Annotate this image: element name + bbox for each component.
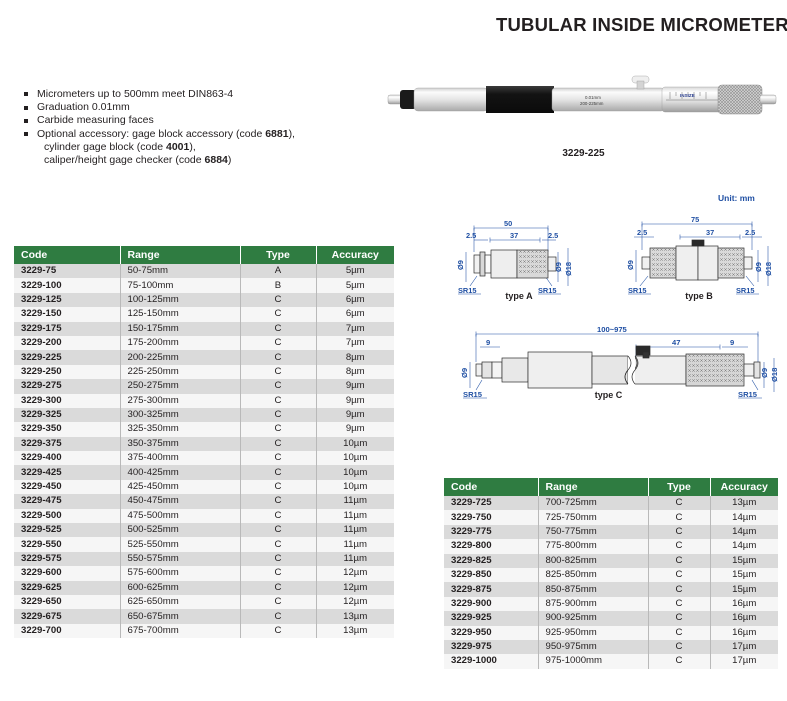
cell-type: C [240,336,316,350]
cell-accuracy: 13µm [710,496,778,510]
dim-right-step: 2.5 [548,231,558,240]
cell-accuracy: 11µm [316,494,394,508]
catalog-page: TUBULAR INSIDE MICROMETERS Micrometers u… [0,0,787,701]
cell-accuracy: 13µm [316,624,394,638]
cell-range: 200-225mm [120,350,240,364]
cell-type: C [648,554,710,568]
cell-accuracy: 16µm [710,611,778,625]
table-row: 3229-925900-925mmC16µm [444,611,778,625]
cell-range: 375-400mm [120,451,240,465]
cell-range: 950-975mm [538,640,648,654]
table-row: 3229-725700-725mmC13µm [444,496,778,510]
cell-accuracy: 7µm [316,336,394,350]
cell-range: 450-475mm [120,494,240,508]
cell-type: C [648,496,710,510]
table-header-row: Code Range Type Accuracy [14,246,394,264]
cell-range: 825-850mm [538,568,648,582]
dim-dia-right-big: Ø18 [564,262,573,276]
cell-type: A [240,264,316,278]
cell-type: C [240,322,316,336]
cell-code: 3229-250 [14,365,120,379]
cell-accuracy: 13µm [316,609,394,623]
cell-code: 3229-325 [14,408,120,422]
cell-accuracy: 10µm [316,480,394,494]
cell-accuracy: 14µm [710,510,778,524]
table-body-left: 3229-7550-75mmA5µm3229-10075-100mmB5µm32… [14,264,394,638]
cell-range: 275-300mm [120,394,240,408]
cell-type: C [648,626,710,640]
table-row: 3229-10075-100mmB5µm [14,278,394,292]
table-row: 3229-575550-575mmC11µm [14,552,394,566]
cell-type: C [240,465,316,479]
cell-code: 3229-75 [14,264,120,278]
product-caption: 3229-225 [380,148,787,159]
cell-type: C [240,422,316,436]
cell-accuracy: 14µm [710,525,778,539]
table-header-row: Code Range Type Accuracy [444,478,778,496]
cell-type: C [648,582,710,596]
cell-accuracy: 15µm [710,582,778,596]
table-row: 3229-800775-800mmC14µm [444,539,778,553]
table-row: 3229-950925-950mmC16µm [444,626,778,640]
cell-type: C [240,537,316,551]
dim-dia-right-big: Ø18 [770,368,779,382]
cell-code: 3229-625 [14,581,120,595]
product-scale-text: 0.01mm [585,95,601,100]
cell-range: 175-200mm [120,336,240,350]
dim-overall: 75 [691,215,699,224]
cell-code: 3229-825 [444,554,538,568]
cell-accuracy: 9µm [316,379,394,393]
table-row: 3229-650625-650mmC12µm [14,595,394,609]
table-row: 3229-200175-200mmC7µm [14,336,394,350]
cell-code: 3229-875 [444,582,538,596]
dim-inner: 37 [510,231,518,240]
cell-accuracy: 7µm [316,322,394,336]
dim-left-step: 9 [486,338,490,347]
cell-type: C [240,437,316,451]
table-row: 3229-625600-625mmC12µm [14,581,394,595]
cell-range: 75-100mm [120,278,240,292]
dim-inner: 37 [706,228,714,237]
cell-code: 3229-900 [444,597,538,611]
cell-range: 625-650mm [120,595,240,609]
cell-range: 400-425mm [120,465,240,479]
cell-type: C [648,568,710,582]
cell-code: 3229-150 [14,307,120,321]
table-row: 3229-7550-75mmA5µm [14,264,394,278]
cell-accuracy: 6µm [316,293,394,307]
cell-accuracy: 10µm [316,451,394,465]
cell-accuracy: 5µm [316,278,394,292]
cell-accuracy: 12µm [316,595,394,609]
cell-code: 3229-375 [14,437,120,451]
bullet-icon [24,92,28,96]
cell-accuracy: 9µm [316,422,394,436]
feature-list-items: Micrometers up to 500mm meet DIN863-4 Gr… [24,88,384,167]
cell-code: 3229-925 [444,611,538,625]
dim-dia-left: Ø9 [626,260,635,270]
cell-range: 100-125mm [120,293,240,307]
table-row: 3229-700675-700mmC13µm [14,624,394,638]
table-row: 3229-875850-875mmC15µm [444,582,778,596]
cell-range: 325-350mm [120,422,240,436]
cell-type: C [240,566,316,580]
product-photo: 0.01mm 200-225mm INSIZE [380,66,787,146]
cell-code: 3229-700 [14,624,120,638]
cell-type: C [240,480,316,494]
cell-type: C [648,597,710,611]
table-row: 3229-600575-600mmC12µm [14,566,394,580]
feature-text: Carbide measuring faces [37,114,154,126]
cell-code: 3229-275 [14,379,120,393]
cell-code: 3229-750 [444,510,538,524]
table-row: 3229-250225-250mmC8µm [14,365,394,379]
table-row: 3229-150125-150mmC6µm [14,307,394,321]
table-row: 3229-525500-525mmC11µm [14,523,394,537]
cell-range: 150-175mm [120,322,240,336]
table-row: 3229-350325-350mmC9µm [14,422,394,436]
table-row: 3229-175150-175mmC7µm [14,322,394,336]
product-range-text: 200-225mm [580,101,604,106]
column-header-accuracy: Accuracy [710,478,778,496]
cell-range: 650-675mm [120,609,240,623]
cell-type: C [240,609,316,623]
column-header-type: Type [648,478,710,496]
cell-accuracy: 12µm [316,581,394,595]
drawing-label-type-c: type C [430,390,787,400]
cell-type: C [240,394,316,408]
column-header-code: Code [14,246,120,264]
cell-accuracy: 8µm [316,350,394,364]
cell-accuracy: 16µm [710,597,778,611]
table-row: 3229-850825-850mmC15µm [444,568,778,582]
cell-range: 525-550mm [120,537,240,551]
technical-drawings: Unit: mm [430,186,787,400]
cell-code: 3229-975 [444,640,538,654]
spec-table-left: Code Range Type Accuracy 3229-7550-75mmA… [14,246,394,638]
table-body-right: 3229-725700-725mmC13µm3229-750725-750mmC… [444,496,778,669]
cell-code: 3229-300 [14,394,120,408]
drawing-label-type-a: type A [430,291,608,301]
cell-type: C [240,523,316,537]
feature-text: Micrometers up to 500mm meet DIN863-4 [37,88,233,100]
product-figure: 0.01mm 200-225mm INSIZE 3229-225 [380,66,787,146]
spec-table-right: Code Range Type Accuracy 3229-725700-725… [444,478,778,669]
table-row: 3229-500475-500mmC11µm [14,509,394,523]
dim-right-step: 2.5 [745,228,755,237]
cell-range: 875-900mm [538,597,648,611]
bullet-icon [24,106,28,110]
cell-code: 3229-525 [14,523,120,537]
cell-type: C [240,509,316,523]
dim-overall: 100~975 [597,325,628,334]
dim-dia-right-big: Ø18 [764,262,773,276]
feature-text: Graduation 0.01mm [37,101,130,113]
table-row: 3229-275250-275mmC9µm [14,379,394,393]
cell-type: C [240,451,316,465]
drawing-label-type-b: type B [612,291,786,301]
cell-code: 3229-775 [444,525,538,539]
cell-type: C [648,611,710,625]
cell-code: 3229-550 [14,537,120,551]
cell-range: 750-775mm [538,525,648,539]
cell-type: C [648,640,710,654]
cell-code: 3229-100 [14,278,120,292]
cell-range: 575-600mm [120,566,240,580]
column-header-code: Code [444,478,538,496]
cell-accuracy: 11µm [316,509,394,523]
cell-accuracy: 12µm [316,566,394,580]
cell-range: 125-150mm [120,307,240,321]
cell-code: 3229-425 [14,465,120,479]
cell-code: 3229-400 [14,451,120,465]
table-row: 3229-975950-975mmC17µm [444,640,778,654]
cell-range: 475-500mm [120,509,240,523]
cell-code: 3229-575 [14,552,120,566]
dim-right-step: 9 [730,338,734,347]
table-row: 3229-1000975-1000mmC17µm [444,654,778,668]
table-row: 3229-825800-825mmC15µm [444,554,778,568]
cell-range: 550-575mm [120,552,240,566]
bullet-icon [24,132,28,136]
cell-range: 925-950mm [538,626,648,640]
cell-accuracy: 9µm [316,394,394,408]
cell-accuracy: 17µm [710,640,778,654]
cell-accuracy: 14µm [710,539,778,553]
feature-subline: caliper/height gage checker (code 6884) [37,154,384,167]
cell-type: C [648,539,710,553]
table-row: 3229-325300-325mmC9µm [14,408,394,422]
cell-code: 3229-850 [444,568,538,582]
table-row: 3229-425400-425mmC10µm [14,465,394,479]
cell-code: 3229-600 [14,566,120,580]
column-header-range: Range [538,478,648,496]
cell-code: 3229-500 [14,509,120,523]
cell-type: C [240,379,316,393]
cell-accuracy: 10µm [316,437,394,451]
feature-text-main: Optional accessory: gage block accessory… [37,128,295,140]
cell-accuracy: 9µm [316,408,394,422]
cell-type: C [648,525,710,539]
cell-type: C [240,365,316,379]
table-row: 3229-550525-550mmC11µm [14,537,394,551]
cell-range: 350-375mm [120,437,240,451]
table-row: 3229-900875-900mmC16µm [444,597,778,611]
list-item: Carbide measuring faces [24,114,384,127]
cell-accuracy: 8µm [316,365,394,379]
list-item: Optional accessory: gage block accessory… [24,128,384,168]
table-row: 3229-225200-225mmC8µm [14,350,394,364]
cell-accuracy: 11µm [316,523,394,537]
page-title: TUBULAR INSIDE MICROMETERS [496,14,787,36]
cell-range: 725-750mm [538,510,648,524]
list-item: Micrometers up to 500mm meet DIN863-4 [24,88,384,101]
column-header-type: Type [240,246,316,264]
cell-range: 850-875mm [538,582,648,596]
cell-code: 3229-200 [14,336,120,350]
cell-range: 800-825mm [538,554,648,568]
cell-code: 3229-675 [14,609,120,623]
cell-type: C [240,293,316,307]
table-row: 3229-675650-675mmC13µm [14,609,394,623]
dim-dia-left: Ø9 [460,368,469,378]
dim-left-step: 2.5 [466,231,476,240]
cell-accuracy: 15µm [710,554,778,568]
cell-range: 975-1000mm [538,654,648,668]
cell-range: 675-700mm [120,624,240,638]
table-row: 3229-475450-475mmC11µm [14,494,394,508]
cell-code: 3229-1000 [444,654,538,668]
cell-range: 700-725mm [538,496,648,510]
cell-code: 3229-725 [444,496,538,510]
cell-code: 3229-225 [14,350,120,364]
dim-dia-right-small: Ø9 [754,262,763,272]
cell-code: 3229-475 [14,494,120,508]
table-row: 3229-400375-400mmC10µm [14,451,394,465]
cell-type: C [240,552,316,566]
dim-dia-right-small: Ø9 [554,262,563,272]
cell-range: 600-625mm [120,581,240,595]
cell-type: B [240,278,316,292]
dim-inner: 47 [672,338,680,347]
cell-accuracy: 17µm [710,654,778,668]
product-brand-text: INSIZE [680,93,695,98]
drawing-type-a: 50 37 2.5 2.5 Ø9 Ø9 Ø18 SR15 SR15 [430,200,608,305]
drawing-type-b: 75 37 2.5 2.5 Ø9 Ø9 Ø18 SR15 SR15 [612,200,786,305]
cell-code: 3229-800 [444,539,538,553]
dim-left-step: 2.5 [637,228,647,237]
cell-accuracy: 5µm [316,264,394,278]
cell-accuracy: 6µm [316,307,394,321]
cell-accuracy: 15µm [710,568,778,582]
cell-accuracy: 11µm [316,552,394,566]
cell-code: 3229-950 [444,626,538,640]
cell-type: C [240,408,316,422]
cell-accuracy: 16µm [710,626,778,640]
table-row: 3229-125100-125mmC6µm [14,293,394,307]
cell-code: 3229-125 [14,293,120,307]
table-row: 3229-375350-375mmC10µm [14,437,394,451]
cell-accuracy: 11µm [316,537,394,551]
table-row: 3229-450425-450mmC10µm [14,480,394,494]
cell-type: C [240,595,316,609]
dim-overall: 50 [504,219,512,228]
feature-list: Micrometers up to 500mm meet DIN863-4 Gr… [24,88,384,167]
cell-type: C [240,624,316,638]
feature-subline: cylinder gage block (code 4001), [37,141,384,154]
cell-type: C [240,581,316,595]
dim-dia-right-small: Ø9 [760,368,769,378]
cell-range: 775-800mm [538,539,648,553]
table-row: 3229-750725-750mmC14µm [444,510,778,524]
bullet-icon [24,119,28,123]
cell-range: 225-250mm [120,365,240,379]
column-header-accuracy: Accuracy [316,246,394,264]
cell-type: C [648,510,710,524]
cell-range: 900-925mm [538,611,648,625]
cell-range: 425-450mm [120,480,240,494]
dim-dia-left: Ø9 [456,260,465,270]
cell-accuracy: 10µm [316,465,394,479]
list-item: Graduation 0.01mm [24,101,384,114]
column-header-range: Range [120,246,240,264]
cell-range: 300-325mm [120,408,240,422]
cell-range: 250-275mm [120,379,240,393]
table-row: 3229-775750-775mmC14µm [444,525,778,539]
cell-code: 3229-650 [14,595,120,609]
feature-text: Optional accessory: gage block accessory… [37,128,295,140]
cell-code: 3229-450 [14,480,120,494]
cell-range: 50-75mm [120,264,240,278]
cell-code: 3229-175 [14,322,120,336]
cell-type: C [240,494,316,508]
cell-code: 3229-350 [14,422,120,436]
table-row: 3229-300275-300mmC9µm [14,394,394,408]
cell-type: C [240,350,316,364]
cell-type: C [648,654,710,668]
cell-range: 500-525mm [120,523,240,537]
cell-type: C [240,307,316,321]
